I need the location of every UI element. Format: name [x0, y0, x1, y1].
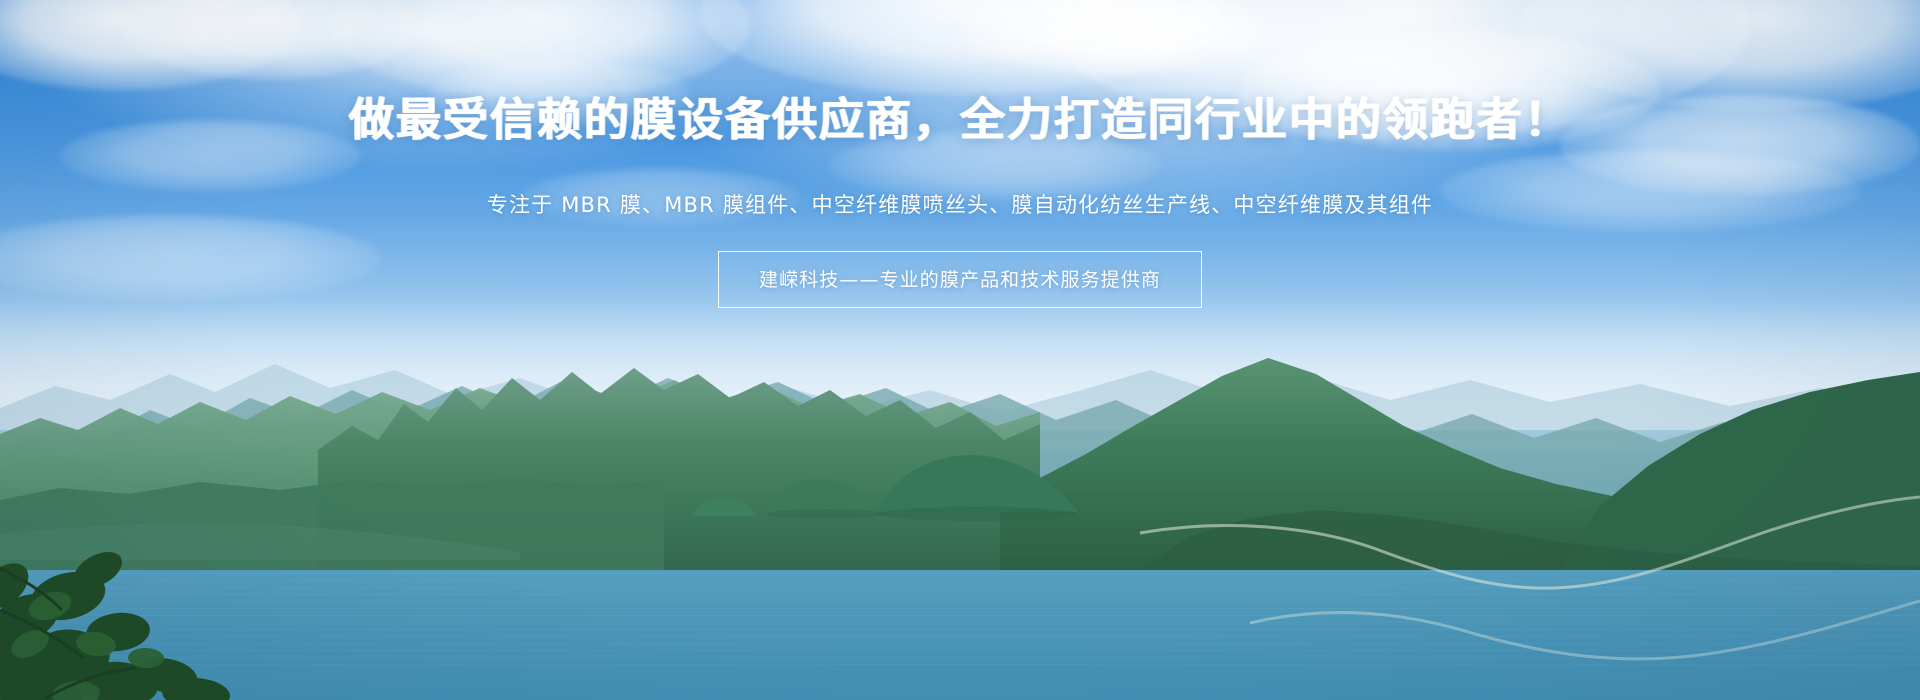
hero-banner: 做最受信赖的膜设备供应商，全力打造同行业中的领跑者！ 专注于 MBR 膜、MBR… [0, 0, 1920, 700]
banner-tagline: 建嵘科技——专业的膜产品和技术服务提供商 [718, 251, 1202, 308]
banner-subheadline: 专注于 MBR 膜、MBR 膜组件、中空纤维膜喷丝头、膜自动化纺丝生产线、中空纤… [0, 189, 1920, 219]
mountain-road [1100, 455, 1920, 700]
left-shoreline [0, 500, 520, 560]
banner-headline: 做最受信赖的膜设备供应商，全力打造同行业中的领跑者！ [0, 96, 1920, 145]
